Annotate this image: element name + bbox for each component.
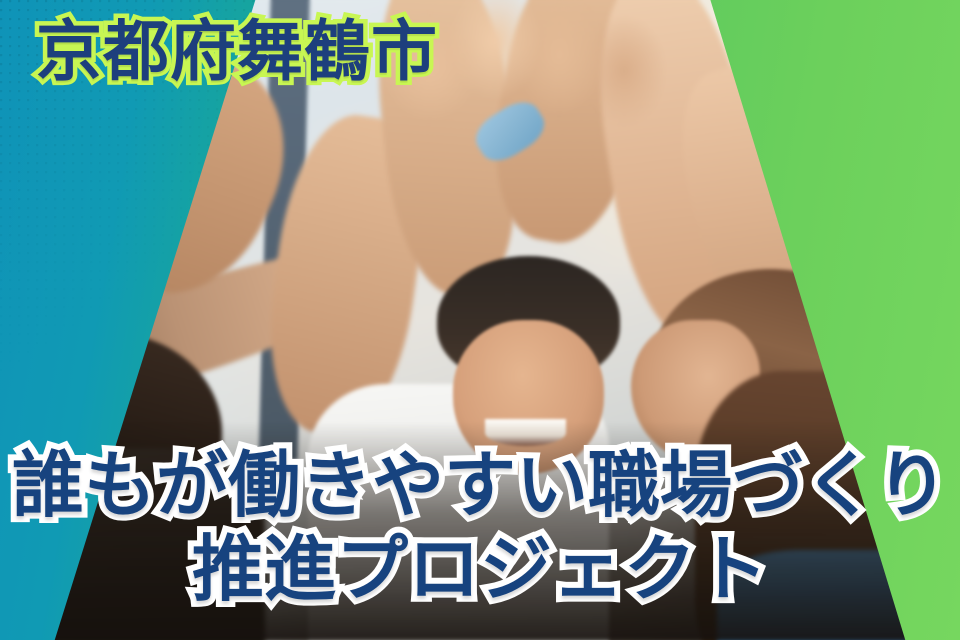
headline-block: 誰もが働きやすい職場づくり 推進プロジェクト (0, 444, 960, 611)
headline-line-2: 推進プロジェクト (0, 528, 960, 612)
prefecture-title-block: 京都府舞鶴市 (36, 16, 438, 87)
promotional-banner: 京都府舞鶴市 誰もが働きやすい職場づくり 推進プロジェクト (0, 0, 960, 640)
headline-line-1: 誰もが働きやすい職場づくり (0, 444, 960, 528)
page-title: 京都府舞鶴市 (36, 16, 438, 87)
